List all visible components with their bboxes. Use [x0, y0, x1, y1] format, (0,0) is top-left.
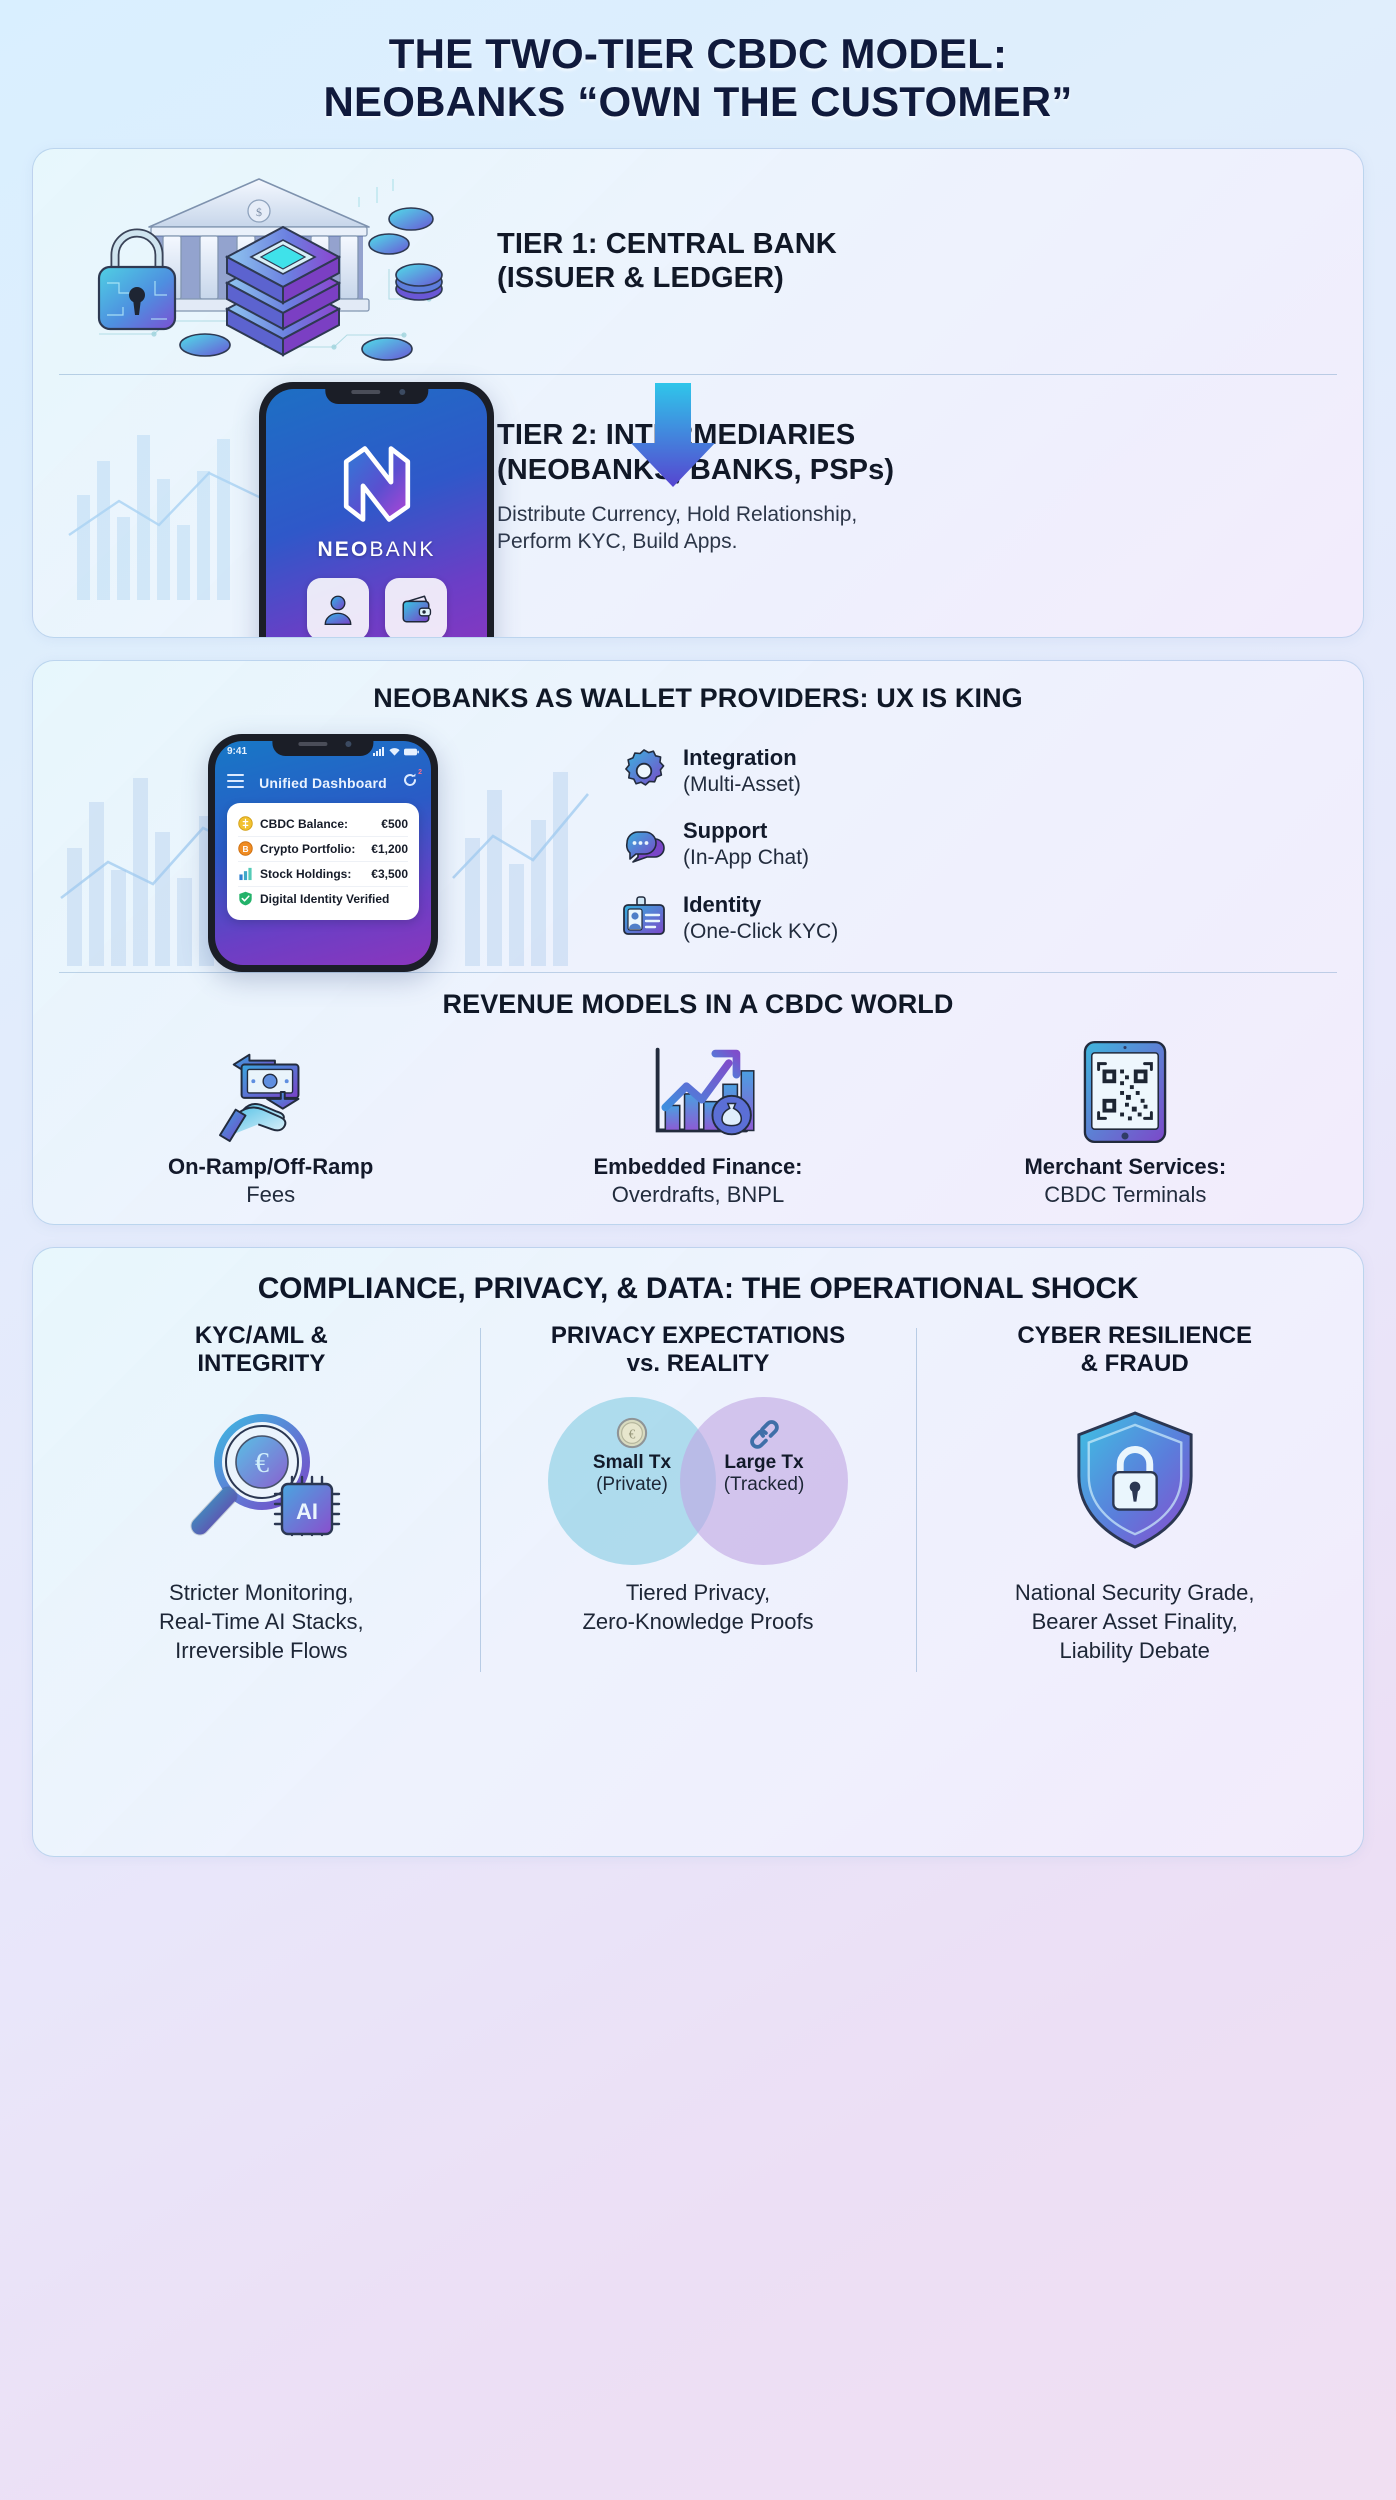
refresh-badge: 2 — [418, 769, 422, 776]
venn-label-2: (Tracked) — [724, 1474, 805, 1497]
dashboard-phone-area: 9:41 — [53, 728, 593, 966]
tier-1-heading-line-2: (ISSUER & LEDGER) — [497, 261, 1337, 295]
revenue-item-line-1: On-Ramp/Off-Ramp — [57, 1154, 484, 1180]
feature-title: Identity — [683, 893, 838, 917]
dashboard-row-label: Crypto Portfolio: — [260, 842, 364, 856]
compliance-body-line-2: Real-Time AI Stacks, — [55, 1607, 468, 1636]
feature-integration: Integration (Multi-Asset) — [621, 746, 1343, 797]
svg-text:B: B — [242, 844, 248, 854]
unified-dashboard-phone: 9:41 — [208, 734, 438, 972]
feature-sub: (One-Click KYC) — [683, 919, 838, 944]
compliance-heading: COMPLIANCE, PRIVACY, & DATA: THE OPERATI… — [33, 1248, 1363, 1322]
compliance-body-line-3: Liability Debate — [928, 1636, 1341, 1665]
compliance-column-privacy: PRIVACY EXPECTATIONS vs. REALITY € Small… — [480, 1322, 917, 1666]
down-arrow-icon — [613, 381, 733, 491]
compliance-column-kyc: KYC/AML & INTEGRITY € — [43, 1322, 480, 1666]
svg-text:AI: AI — [296, 1499, 318, 1524]
brand-light: BANK — [370, 538, 436, 561]
tier-1-heading-line-1: TIER 1: CENTRAL BANK — [497, 227, 1337, 261]
cbdc-coin-icon — [238, 816, 253, 831]
wallet-row: 9:41 — [33, 724, 1363, 966]
wifi-icon — [389, 747, 400, 756]
status-bar: 9:41 — [215, 741, 431, 763]
neobank-app-phone: NEOBANK — [259, 382, 494, 638]
id-card-icon — [621, 895, 667, 941]
phone-notch — [325, 382, 428, 404]
compliance-title-line-2: & FRAUD — [928, 1350, 1341, 1378]
venn-diagram: € Small Tx (Private) — [492, 1383, 905, 1578]
revenue-item-line-1: Embedded Finance: — [484, 1154, 911, 1180]
brand-bold: NEO — [317, 538, 369, 561]
dashboard-row[interactable]: B Crypto Portfolio: €1,200 — [238, 836, 408, 861]
venn-circle-large-tx: Large Tx (Tracked) — [680, 1397, 848, 1565]
battery-icon — [404, 748, 419, 756]
compliance-card: COMPLIANCE, PRIVACY, & DATA: THE OPERATI… — [32, 1247, 1364, 1857]
feature-title: Support — [683, 819, 809, 843]
app-bar: Unified Dashboard 2 — [215, 767, 431, 799]
venn-label-1: Large Tx — [724, 1453, 803, 1474]
revenue-item-onramp: On-Ramp/Off-Ramp Fees — [57, 1036, 484, 1208]
bitcoin-icon: B — [238, 841, 253, 856]
page-title-line-2: NEOBANKS “OWN THE CUSTOMER” — [60, 78, 1336, 126]
tier-2-sub-line-2: Perform KYC, Build Apps. — [497, 528, 1337, 556]
tier-1-row: $ — [33, 149, 1363, 374]
dashboard-row[interactable]: Digital Identity Verified — [238, 886, 408, 911]
compliance-body-line-2: Zero-Knowledge Proofs — [492, 1607, 905, 1636]
chat-icon — [621, 821, 667, 867]
qr-tablet-icon — [912, 1036, 1339, 1148]
tier-2-text: TIER 2: INTERMEDIARIES (NEOBANKS, BANKS,… — [479, 418, 1337, 556]
neobank-n-logo — [335, 441, 419, 532]
status-time: 9:41 — [227, 746, 247, 757]
dashboard-row-value: €1,200 — [371, 842, 408, 856]
compliance-columns: KYC/AML & INTEGRITY € — [33, 1322, 1363, 1666]
compliance-title-line-1: PRIVACY EXPECTATIONS — [492, 1322, 905, 1350]
compliance-title-line-2: INTEGRITY — [55, 1350, 468, 1378]
dashboard-row-label: Digital Identity Verified — [260, 892, 401, 906]
verified-shield-icon — [238, 891, 253, 906]
central-bank-illustration: $ — [59, 149, 479, 374]
feature-title: Integration — [683, 746, 801, 770]
shield-lock-icon — [928, 1383, 1341, 1578]
compliance-title-line-1: KYC/AML & — [55, 1322, 468, 1350]
bar-chart-icon — [238, 866, 253, 881]
phone-screen: NEOBANK — [266, 389, 487, 638]
tier-2-sub-line-1: Distribute Currency, Hold Relationship, — [497, 501, 1337, 529]
refresh-icon[interactable]: 2 — [402, 772, 419, 793]
revenue-item-line-2: Overdrafts, BNPL — [484, 1182, 911, 1208]
revenue-section-heading: REVENUE MODELS IN A CBDC WORLD — [33, 973, 1363, 1030]
revenue-item-line-2: Fees — [57, 1182, 484, 1208]
venn-label-1: Small Tx — [593, 1453, 671, 1474]
dashboard-row[interactable]: CBDC Balance: €500 — [238, 812, 408, 836]
revenue-item-line-1: Merchant Services: — [912, 1154, 1339, 1180]
app-tiles — [307, 578, 447, 638]
svg-text:$: $ — [256, 205, 262, 219]
wallet-icon[interactable] — [385, 578, 447, 638]
tier-1-text: TIER 1: CENTRAL BANK (ISSUER & LEDGER) — [479, 227, 1337, 295]
money-in-hand-exchange-icon — [57, 1036, 484, 1148]
app-bar-title: Unified Dashboard — [259, 775, 387, 791]
compliance-body-line-3: Irreversible Flows — [55, 1636, 468, 1665]
person-icon[interactable] — [307, 578, 369, 638]
euro-coin-icon: € — [616, 1417, 648, 1454]
neobank-phone-illustration: NEOBANK — [59, 375, 479, 600]
signal-icon — [373, 747, 385, 756]
svg-text:€: € — [255, 1448, 269, 1479]
dashboard-row-label: Stock Holdings: — [260, 867, 364, 881]
revenue-item-merchant-services: Merchant Services: CBDC Terminals — [912, 1036, 1339, 1208]
hamburger-menu-icon[interactable] — [227, 774, 244, 792]
compliance-title-line-2: vs. REALITY — [492, 1350, 905, 1378]
dashboard-screen: 9:41 — [215, 741, 431, 965]
wallet-section-heading: NEOBANKS AS WALLET PROVIDERS: UX IS KING — [33, 661, 1363, 724]
dashboard-row-label: CBDC Balance: — [260, 817, 374, 831]
revenue-row: On-Ramp/Off-Ramp Fees — [33, 1030, 1363, 1208]
feature-sub: (In-App Chat) — [683, 845, 809, 870]
page-title-line-1: THE TWO-TIER CBDC MODEL: — [60, 30, 1336, 78]
wallet-features: Integration (Multi-Asset) Support — [593, 728, 1343, 966]
dashboard-row-value: €3,500 — [371, 867, 408, 881]
magnifier-ai-chip-icon: € AI — [55, 1383, 468, 1578]
brand-wordmark: NEOBANK — [317, 538, 435, 562]
svg-text:€: € — [629, 1427, 636, 1442]
page-title: THE TWO-TIER CBDC MODEL: NEOBANKS “OWN T… — [0, 0, 1396, 148]
dashboard-row-value: €500 — [381, 817, 408, 831]
dashboard-card: CBDC Balance: €500 B Crypto Portfolio: €… — [227, 803, 419, 920]
feature-support: Support (In-App Chat) — [621, 819, 1343, 870]
revenue-item-line-2: CBDC Terminals — [912, 1182, 1339, 1208]
compliance-body-line-1: Tiered Privacy, — [492, 1578, 905, 1607]
dashboard-row[interactable]: Stock Holdings: €3,500 — [238, 861, 408, 886]
revenue-item-embedded-finance: Embedded Finance: Overdrafts, BNPL — [484, 1036, 911, 1208]
growth-chart-moneybag-icon — [484, 1036, 911, 1148]
feature-sub: (Multi-Asset) — [683, 772, 801, 797]
wallet-providers-card: NEOBANKS AS WALLET PROVIDERS: UX IS KING — [32, 660, 1364, 1225]
feature-identity: Identity (One-Click KYC) — [621, 893, 1343, 944]
compliance-body-line-1: Stricter Monitoring, — [55, 1578, 468, 1607]
gear-icon — [621, 748, 667, 794]
compliance-column-cyber: CYBER RESILIENCE & FRAUD National Securi… — [916, 1322, 1353, 1666]
venn-label-2: (Private) — [596, 1474, 668, 1497]
chain-link-icon — [747, 1417, 781, 1456]
compliance-title-line-1: CYBER RESILIENCE — [928, 1322, 1341, 1350]
two-tier-card: $ — [32, 148, 1364, 638]
compliance-body-line-2: Bearer Asset Finality, — [928, 1607, 1341, 1636]
compliance-body-line-1: National Security Grade, — [928, 1578, 1341, 1607]
